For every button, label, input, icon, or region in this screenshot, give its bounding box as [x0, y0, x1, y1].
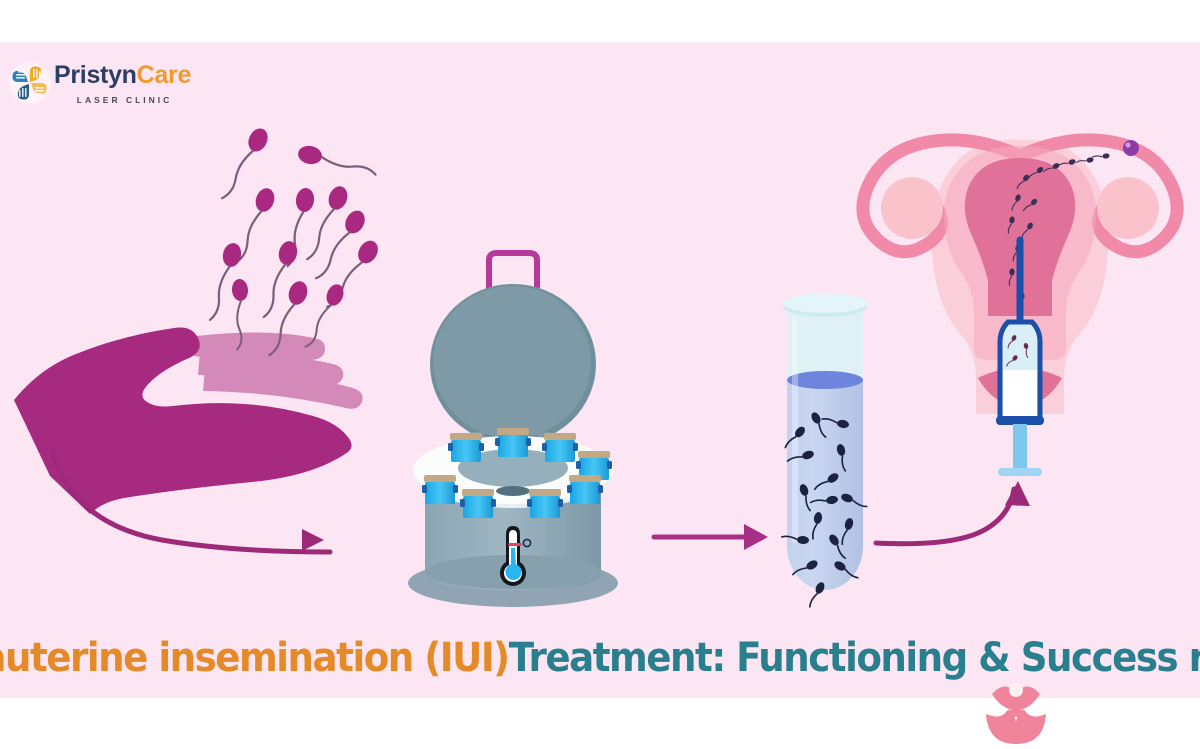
open-hand-with-sperm-icon	[14, 125, 382, 514]
egg-cell-icon	[1123, 140, 1139, 156]
test-tube-with-sperm-icon	[781, 293, 869, 610]
sperm-cell-group	[209, 125, 382, 360]
infographic-canvas: PristynCare LASER CLINIC	[0, 0, 1200, 744]
corner-brand-watermark	[978, 676, 1054, 744]
lotus-figure-icon	[978, 676, 1054, 744]
title-rest: Treatment: Functioning & Success rates	[508, 635, 1200, 681]
centrifuge-machine-icon	[408, 253, 618, 607]
arrow-tube-to-uterus	[876, 481, 1030, 544]
arrow-centrifuge-to-tube	[654, 524, 768, 550]
uterus-with-catheter-icon	[863, 140, 1177, 476]
title-highlight: Intrauterine insemination (IUI)	[0, 635, 508, 681]
